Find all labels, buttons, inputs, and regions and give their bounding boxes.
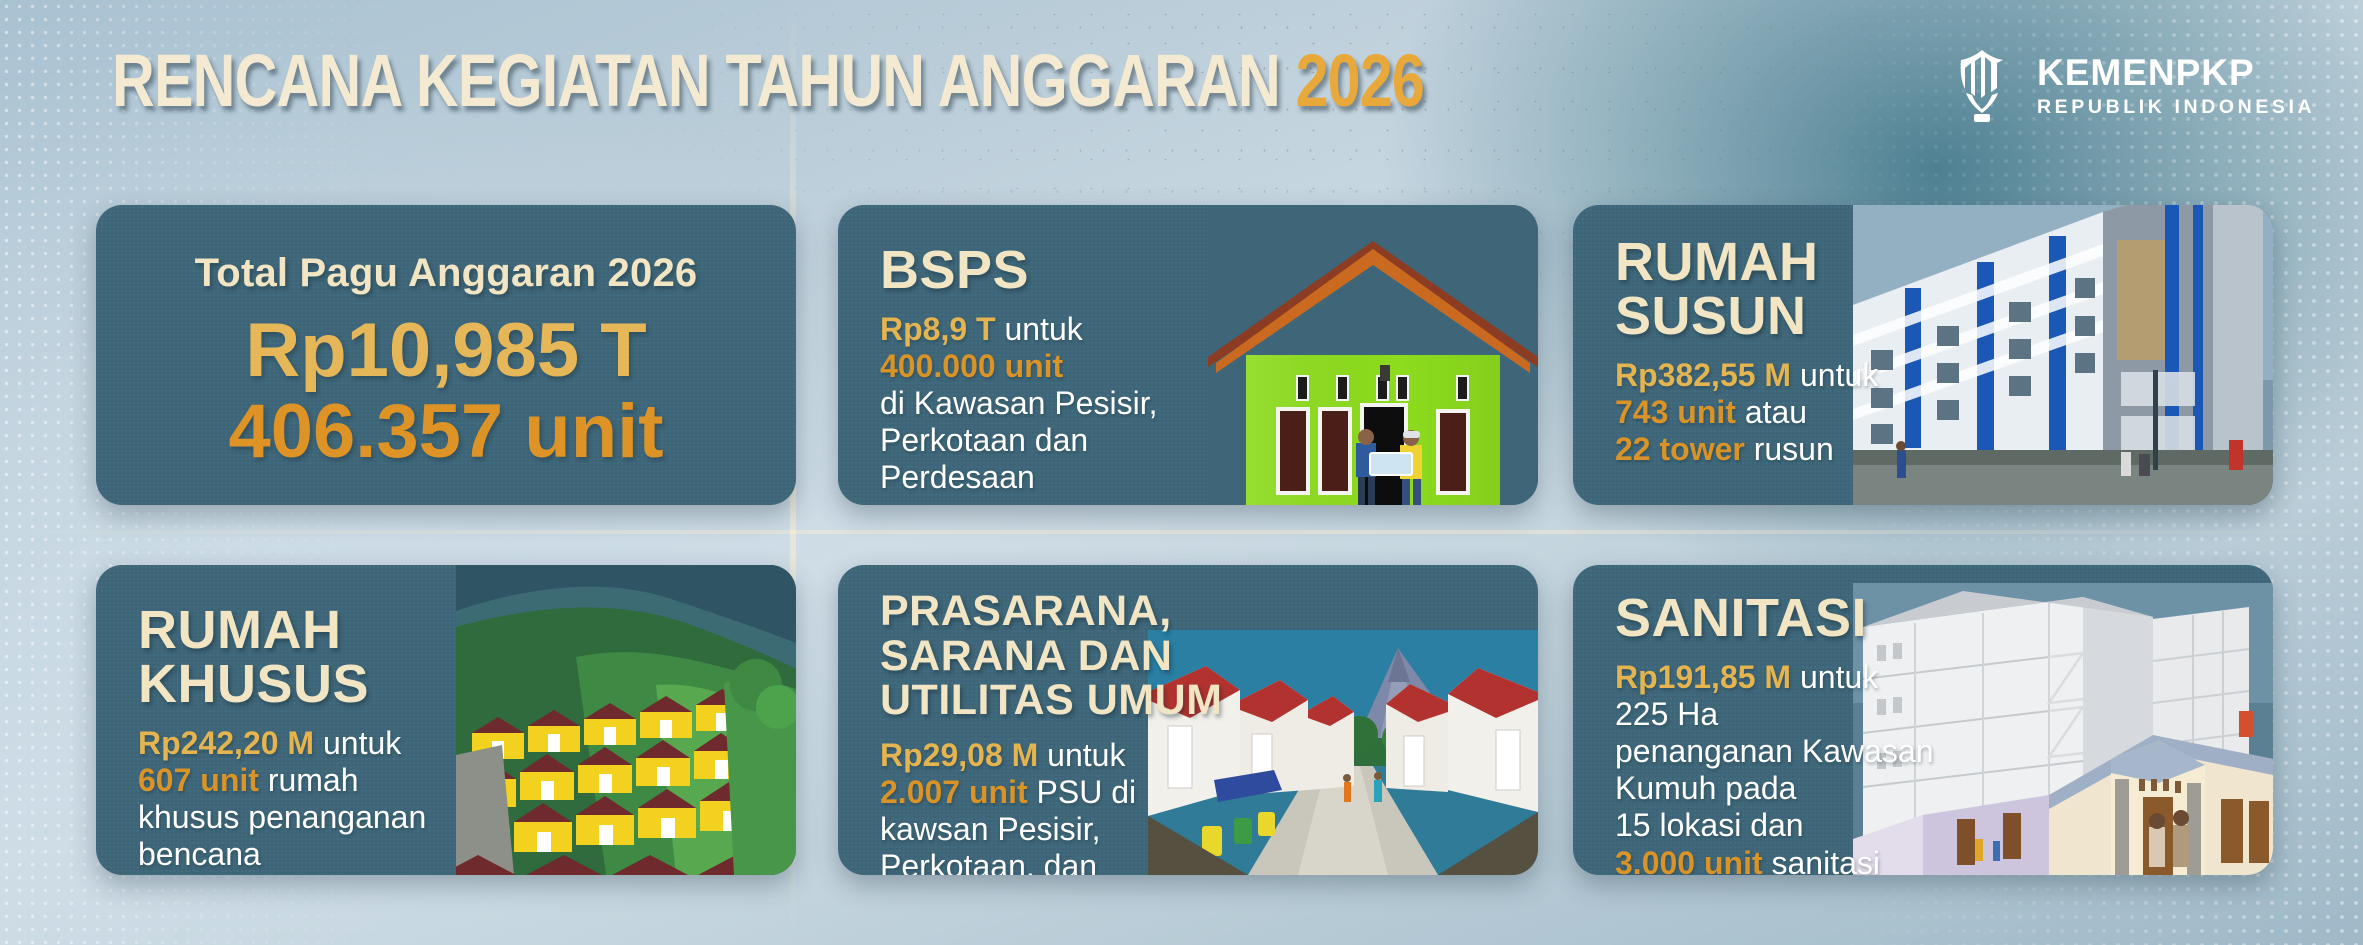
logo-subtitle: REPUBLIK INDONESIA — [2037, 98, 2315, 118]
psu-title-line3: UTILITAS UMUM — [880, 676, 1222, 724]
rusun-desc-tail: rusun — [1745, 431, 1834, 467]
sanitasi-desc-line2: penanganan Kawasan — [1615, 733, 1934, 769]
page-header: RENCANA KEGIATAN TAHUN ANGGARAN 2026 KEM… — [0, 38, 2363, 138]
rusun-title-line1: RUMAH — [1615, 232, 1818, 292]
page-title-year: 2026 — [1296, 39, 1425, 122]
psu-title-line1: PRASARANA, — [880, 587, 1172, 635]
bsps-connector: untuk — [996, 311, 1083, 347]
sanitasi-units: 3.000 unit — [1615, 845, 1763, 875]
khusus-description: Rp242,20 M untuk 607 unit rumah khusus p… — [138, 725, 458, 873]
khusus-units: 607 unit — [138, 762, 259, 798]
khusus-title: RUMAH KHUSUS — [138, 603, 458, 711]
page-title-main: RENCANA KEGIATAN TAHUN ANGGARAN — [112, 39, 1280, 122]
card-psu[interactable]: PRASARANA, SARANA DAN UTILITAS UMUM Rp29… — [838, 565, 1538, 875]
khusus-amount: Rp242,20 M — [138, 725, 314, 761]
sanitasi-description: Rp191,85 M untuk 225 Ha penanganan Kawas… — [1615, 659, 1955, 875]
total-budget-units: 406.357 unit — [96, 392, 796, 471]
sanitasi-desc-line4: 15 lokasi dan — [1615, 807, 1804, 843]
khusus-title-line1: RUMAH — [138, 600, 341, 660]
sanitasi-desc-line3: Kumuh pada — [1615, 770, 1796, 806]
green-house-photo — [1208, 205, 1538, 505]
khusus-title-line2: KHUSUS — [138, 654, 369, 714]
sanitasi-desc-tail: sanitasi — [1763, 845, 1880, 875]
rusun-units2: 22 tower — [1615, 431, 1745, 467]
khusus-connector: untuk — [314, 725, 401, 761]
kemenpkp-logo-icon — [1945, 48, 2019, 124]
kemenpkp-logo: KEMENPKP REPUBLIK INDONESIA — [1945, 48, 2315, 124]
sanitasi-desc-line1: 225 Ha — [1615, 696, 1718, 732]
sanitasi-amount: Rp191,85 M — [1615, 659, 1791, 695]
yellow-housing-aerial-photo — [456, 565, 796, 875]
rusun-units: 743 unit — [1615, 394, 1736, 430]
rusun-connector2: atau — [1736, 394, 1807, 430]
rusun-title: RUMAH SUSUN — [1615, 235, 1945, 343]
bsps-description: Rp8,9 T untuk 400.000 unit di Kawasan Pe… — [880, 311, 1180, 497]
infographic-root: RENCANA KEGIATAN TAHUN ANGGARAN 2026 KEM… — [0, 0, 2363, 945]
rusun-title-line2: SUSUN — [1615, 286, 1807, 346]
total-budget-amount: Rp10,985 T — [96, 312, 796, 390]
card-total-budget[interactable]: Total Pagu Anggaran 2026 Rp10,985 T 406.… — [96, 205, 796, 505]
psu-units: 2.007 unit — [880, 774, 1028, 810]
bsps-units: 400.000 unit — [880, 348, 1063, 384]
card-rumah-khusus[interactable]: RUMAH KHUSUS Rp242,20 M untuk 607 unit r… — [96, 565, 796, 875]
card-rumah-susun[interactable]: RUMAH SUSUN Rp382,55 M untuk 743 unit at… — [1573, 205, 2273, 505]
rusun-amount: Rp382,55 M — [1615, 357, 1791, 393]
psu-description: Rp29,08 M untuk 2.007 unit PSU di kawsan… — [880, 737, 1240, 875]
psu-title: PRASARANA, SARANA DAN UTILITAS UMUM — [880, 589, 1240, 723]
psu-connector: untuk — [1038, 737, 1125, 773]
bsps-title: BSPS — [880, 243, 1180, 297]
psu-title-line2: SARANA DAN — [880, 632, 1172, 680]
page-title: RENCANA KEGIATAN TAHUN ANGGARAN 2026 — [112, 38, 1424, 123]
card-bsps[interactable]: BSPS Rp8,9 T untuk 400.000 unit di Kawas… — [838, 205, 1538, 505]
logo-name: KEMENPKP — [2037, 54, 2315, 91]
bsps-amount: Rp8,9 T — [880, 311, 996, 347]
psu-amount: Rp29,08 M — [880, 737, 1038, 773]
rusun-connector: untuk — [1791, 357, 1878, 393]
rusun-description: Rp382,55 M untuk 743 unit atau 22 tower … — [1615, 357, 1945, 468]
horizontal-divider-sheen — [0, 530, 2363, 534]
bsps-desc-text: di Kawasan Pesisir, Perkotaan dan Perdes… — [880, 385, 1157, 495]
card-sanitasi[interactable]: SANITASI Rp191,85 M untuk 225 Ha penanga… — [1573, 565, 2273, 875]
total-budget-label: Total Pagu Anggaran 2026 — [96, 251, 796, 296]
sanitasi-title: SANITASI — [1615, 591, 1955, 645]
sanitasi-connector: untuk — [1791, 659, 1878, 695]
